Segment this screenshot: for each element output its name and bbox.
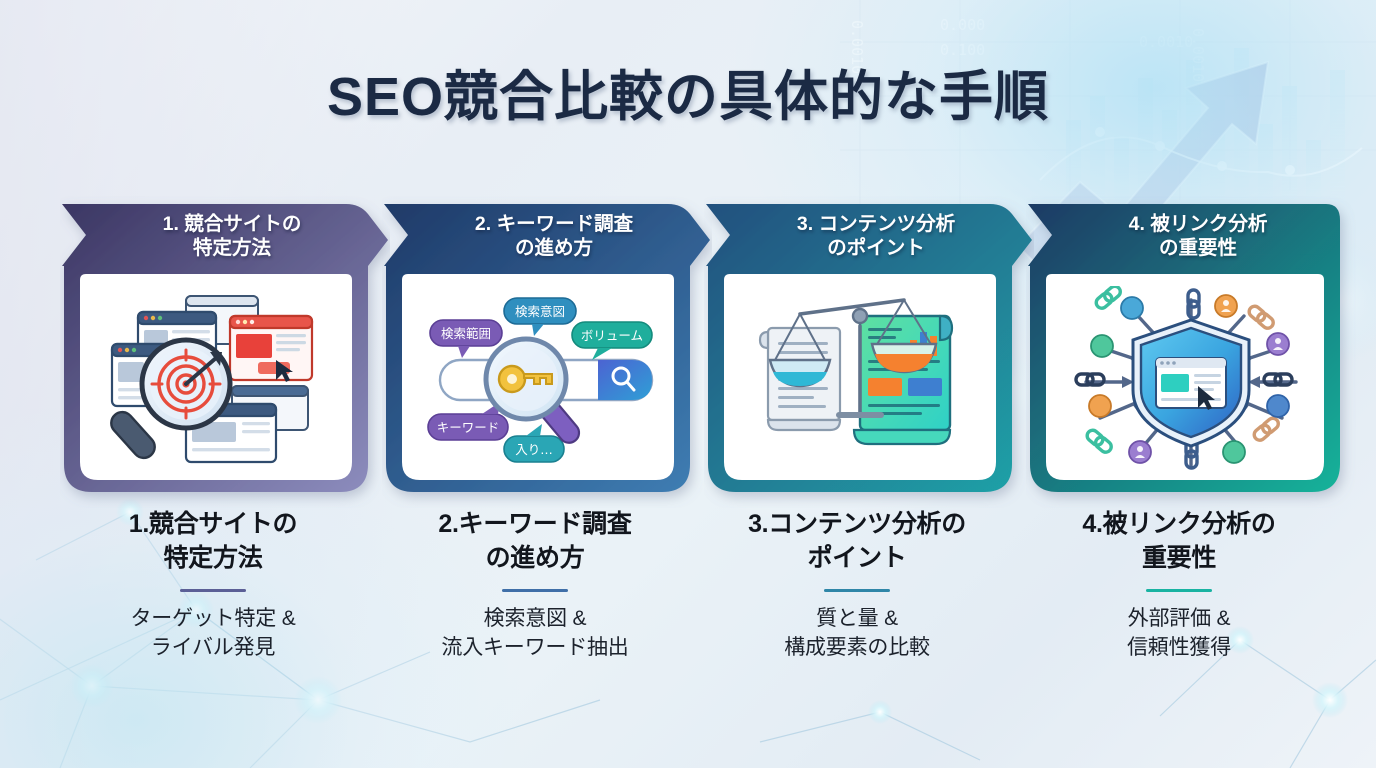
caption-1-subtitle: ターゲット特定 & ライバル発見: [48, 605, 378, 663]
balance-scale-two-documents-icon: [744, 286, 994, 472]
svg-text:キーワード: キーワード: [437, 420, 500, 435]
svg-text:検索意図: 検索意図: [515, 304, 565, 319]
step-card-3[interactable]: 3. コンテンツ分析 のポイント: [704, 196, 1034, 508]
caption-4-subtitle: 外部評価 & 信頼性獲得: [1014, 605, 1344, 663]
caption-2: 2.キーワード調査 の進め方 検索意図 & 流入キーワード抽出: [370, 508, 700, 663]
caption-2-sub-line1: 検索意図 &: [370, 605, 700, 634]
caption-3-title-line1: 3.コンテンツ分析の: [692, 508, 1022, 542]
caption-4-title-line2: 重要性: [1014, 542, 1344, 576]
caption-3-sub-line2: 構成要素の比較: [692, 634, 1022, 663]
caption-1-title-line1: 1.競合サイトの: [48, 508, 378, 542]
caption-2-title-line1: 2.キーワード調査: [370, 508, 700, 542]
step-card-4[interactable]: 4. 被リンク分析 の重要性: [1026, 196, 1356, 508]
step-card-2-illustration: 検索意図 検索範囲 ボリューム キーワード: [410, 280, 684, 478]
page-title: SEO競合比較の具体的な手順: [327, 52, 1049, 131]
svg-text:ボリューム: ボリューム: [581, 328, 643, 343]
searchbar-key-magnifier-icon: 検索意図 検索範囲 ボリューム キーワード: [422, 286, 672, 472]
caption-2-title: 2.キーワード調査 の進め方: [370, 508, 700, 575]
caption-4-title: 4.被リンク分析の 重要性: [1014, 508, 1344, 575]
shield-inbound-links-icon: [1066, 286, 1316, 472]
step-card-1-illustration: [88, 280, 362, 478]
step-card-3-illustration: [732, 280, 1006, 478]
step-card-2[interactable]: 2. キーワード調査 の進め方: [382, 196, 712, 508]
caption-1-divider: [180, 589, 246, 592]
caption-4-title-line1: 4.被リンク分析の: [1014, 508, 1344, 542]
caption-2-title-line2: の進め方: [370, 542, 700, 576]
caption-3: 3.コンテンツ分析の ポイント 質と量 & 構成要素の比較: [692, 508, 1022, 663]
caption-4: 4.被リンク分析の 重要性 外部評価 & 信頼性獲得: [1014, 508, 1344, 663]
caption-4-sub-line1: 外部評価 &: [1014, 605, 1344, 634]
caption-1-title-line2: 特定方法: [48, 542, 378, 576]
caption-3-subtitle: 質と量 & 構成要素の比較: [692, 605, 1022, 663]
captions-row: 1.競合サイトの 特定方法 ターゲット特定 & ライバル発見 2.キーワード調査…: [0, 508, 1376, 708]
caption-4-divider: [1146, 589, 1212, 592]
caption-3-title-line2: ポイント: [692, 542, 1022, 576]
caption-1-sub-line2: ライバル発見: [48, 634, 378, 663]
caption-3-divider: [824, 589, 890, 592]
caption-3-sub-line1: 質と量 &: [692, 605, 1022, 634]
steps-row: 1. 競合サイトの 特定方法: [0, 196, 1376, 508]
caption-1-title: 1.競合サイトの 特定方法: [48, 508, 378, 575]
caption-1-sub-line1: ターゲット特定 &: [48, 605, 378, 634]
caption-4-sub-line2: 信頼性獲得: [1014, 634, 1344, 663]
step-card-1[interactable]: 1. 競合サイトの 特定方法: [60, 196, 390, 508]
caption-2-divider: [502, 589, 568, 592]
caption-3-title: 3.コンテンツ分析の ポイント: [692, 508, 1022, 575]
page-title-container: SEO競合比較の具体的な手順: [0, 52, 1376, 131]
caption-1: 1.競合サイトの 特定方法 ターゲット特定 & ライバル発見: [48, 508, 378, 663]
browser-windows-magnifier-target-icon: [100, 286, 350, 472]
svg-text:入り…: 入り…: [515, 442, 553, 457]
step-card-4-illustration: [1054, 280, 1328, 478]
svg-text:検索範囲: 検索範囲: [441, 326, 491, 341]
caption-2-sub-line2: 流入キーワード抽出: [370, 634, 700, 663]
caption-2-subtitle: 検索意図 & 流入キーワード抽出: [370, 605, 700, 663]
